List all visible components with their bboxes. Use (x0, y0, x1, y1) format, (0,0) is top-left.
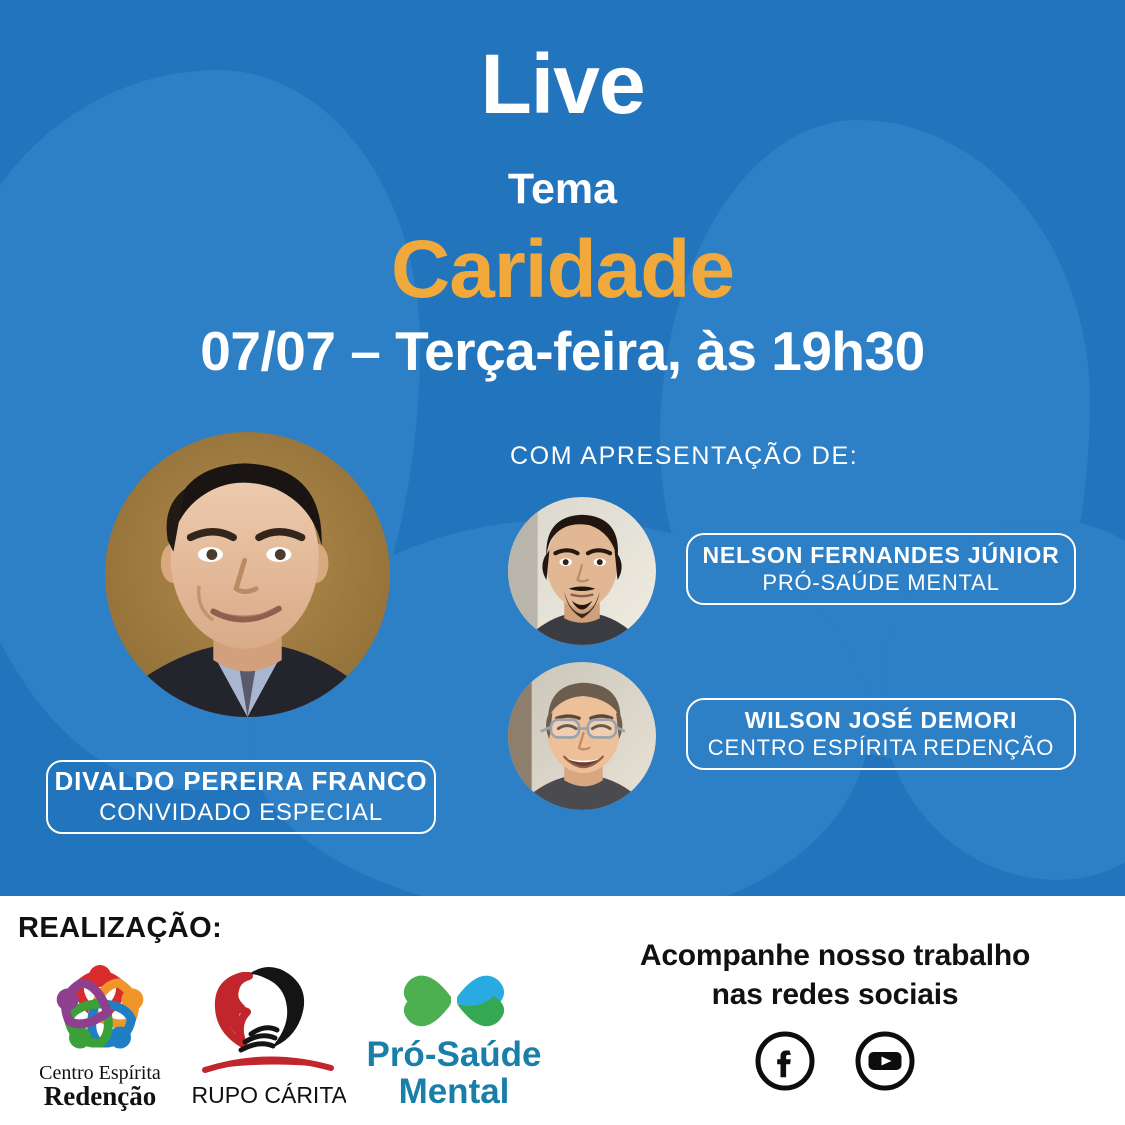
grupo-caritas-logo: GRUPO CÁRITAS (191, 948, 346, 1113)
social-block: Acompanhe nosso trabalho nas redes socia… (600, 936, 1070, 1092)
presenter-2-portrait-graphic (508, 662, 656, 810)
event-poster: Live Tema Caridade 07/07 – Terça-feira, … (0, 0, 1125, 1125)
divaldo-pereira-franco-photo (105, 432, 390, 717)
centro-espirita-redencao-logo: Centro Espírita Redenção (18, 948, 183, 1113)
presenter-2-name-badge: WILSON JOSÉ DEMORI CENTRO ESPÍRITA REDEN… (686, 698, 1076, 770)
centro-espirita-redencao-name-line2: Redenção (44, 1081, 156, 1111)
footer-section: REALIZAÇÃO: (0, 896, 1125, 1125)
hero-section: Live Tema Caridade 07/07 – Terça-feira, … (0, 0, 1125, 896)
guest-portrait-graphic (105, 432, 390, 717)
facebook-icon[interactable] (754, 1030, 816, 1092)
heading-block: Live Tema Caridade 07/07 – Terça-feira, … (0, 0, 1125, 382)
presenter-1-name: NELSON FERNANDES JÚNIOR (688, 542, 1074, 568)
presenter-1-role: PRÓ-SAÚDE MENTAL (688, 570, 1074, 596)
theme-title: Caridade (0, 227, 1125, 313)
presenter-1-name-badge: NELSON FERNANDES JÚNIOR PRÓ-SAÚDE MENTAL (686, 533, 1076, 605)
theme-label: Tema (0, 168, 1125, 211)
guest-role: CONVIDADO ESPECIAL (48, 799, 434, 828)
sponsor-logo-row: Centro Espírita Redenção GRUPO CÁRITAS (18, 948, 554, 1113)
wilson-jose-demori-photo (508, 662, 656, 810)
presenters-heading: COM APRESENTAÇÃO DE: (510, 442, 858, 471)
poster-title: Live (0, 42, 1125, 126)
guest-name: DIVALDO PEREIRA FRANCO (48, 767, 434, 797)
presenter-1-portrait-graphic (508, 497, 656, 645)
social-text-line2: nas redes sociais (600, 975, 1070, 1014)
guest-name-badge: DIVALDO PEREIRA FRANCO CONVIDADO ESPECIA… (46, 760, 436, 834)
nelson-fernandes-junior-photo (508, 497, 656, 645)
grupo-caritas-name: GRUPO CÁRITAS (191, 1082, 346, 1108)
social-icon-row (600, 1030, 1070, 1092)
presenter-2-role: CENTRO ESPÍRITA REDENÇÃO (688, 735, 1074, 761)
youtube-icon[interactable] (854, 1030, 916, 1092)
pro-saude-mental-logo: Pró-Saúde Mental (354, 948, 554, 1113)
pro-saude-mental-name-line2: Mental (399, 1072, 510, 1111)
presenter-2-name: WILSON JOSÉ DEMORI (688, 707, 1074, 733)
event-date-time: 07/07 – Terça-feira, às 19h30 (0, 321, 1125, 382)
pro-saude-mental-name-line1: Pró-Saúde (366, 1035, 541, 1074)
social-text-line1: Acompanhe nosso trabalho (600, 936, 1070, 975)
realizacao-label: REALIZAÇÃO: (18, 912, 222, 945)
